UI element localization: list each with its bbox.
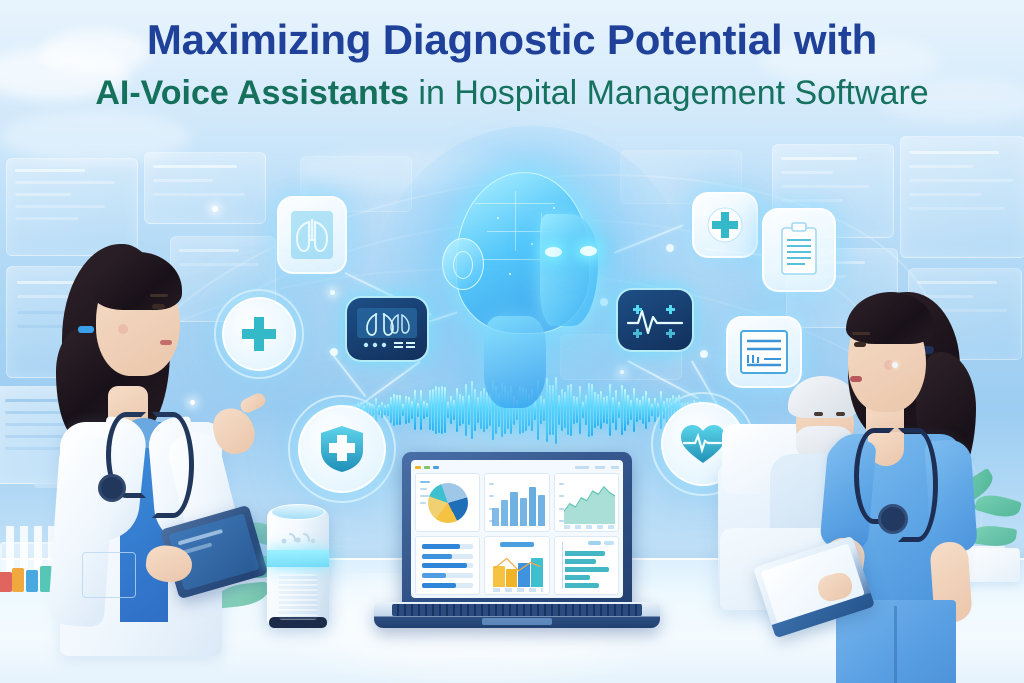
bar [506, 569, 518, 587]
panel-horizontal[interactable] [554, 536, 619, 595]
waveform-bar [387, 404, 389, 415]
waveform-bar [381, 402, 383, 419]
lung-scan-monitor-icon[interactable] [345, 296, 429, 362]
dashboard-grid [415, 473, 619, 595]
bar [492, 508, 499, 526]
bar [529, 487, 536, 526]
first-aid-icon[interactable] [692, 192, 758, 258]
dashboard-window-bar [415, 463, 619, 471]
waveform-bar [657, 403, 659, 417]
page-title: Maximizing Diagnostic Potential with AI-… [0, 18, 1024, 111]
title-line-2-rest: in Hospital Management Software [409, 74, 929, 112]
title-line-1: Maximizing Diagnostic Potential with [0, 18, 1024, 62]
panel-combo[interactable] [484, 536, 549, 595]
patient-queue-list [420, 542, 475, 590]
bar [520, 498, 527, 526]
speaker-mic-glyph [280, 530, 316, 546]
bar [565, 575, 591, 580]
doctor-figure [48, 236, 298, 656]
laptop-keyboard[interactable] [392, 604, 642, 616]
list-item [422, 563, 473, 568]
panel-list[interactable] [415, 536, 480, 595]
bar [531, 558, 543, 587]
waveform-bar [399, 395, 401, 425]
panel-bars[interactable] [484, 473, 549, 532]
window-dot [433, 466, 439, 469]
bar [565, 583, 600, 588]
bar [565, 567, 609, 572]
waveform-bar [405, 396, 407, 425]
waveform-bar [663, 401, 665, 419]
window-control [575, 466, 589, 469]
list-item [422, 544, 473, 549]
waveform-bar [372, 404, 374, 416]
ai-hologram-head [432, 166, 632, 416]
window-control [595, 466, 605, 469]
pie-chart [428, 483, 468, 523]
waveform-bar [660, 391, 662, 429]
combo-chart [493, 553, 542, 587]
nurse-figure [820, 288, 1024, 683]
waveform-bar [666, 398, 668, 423]
ai-ear-icon [442, 238, 484, 290]
waveform-bar [411, 401, 413, 419]
waveform-bar [654, 398, 656, 422]
window-control [611, 466, 619, 469]
list-item [422, 583, 473, 588]
ecg-monitor-icon[interactable] [616, 288, 694, 352]
title-line-2: AI-Voice Assistants in Hospital Manageme… [0, 76, 1024, 112]
laptop-base [374, 602, 660, 628]
window-dot [415, 466, 421, 469]
bar [501, 500, 508, 526]
panel-trend[interactable] [554, 473, 619, 532]
list-item [422, 554, 473, 559]
list-item [422, 573, 473, 578]
smart-speaker[interactable] [267, 508, 329, 626]
ai-eye-left [545, 247, 562, 257]
speaker-status-ring [267, 550, 329, 567]
ai-eye-right [580, 246, 597, 256]
bar [538, 495, 545, 526]
waveform-bar [402, 404, 404, 417]
waveform-bar [384, 405, 386, 415]
hero-banner: Maximizing Diagnostic Potential with AI-… [0, 0, 1024, 683]
panel-pie[interactable] [415, 473, 480, 532]
bar [565, 559, 597, 564]
clipboard-chart-icon[interactable] [762, 208, 836, 292]
waveform-bar [378, 405, 380, 415]
bar [510, 492, 517, 526]
bar [493, 566, 505, 587]
waveform-bar [651, 404, 653, 416]
window-dot [424, 466, 430, 469]
bar [518, 563, 530, 587]
bar-chart [492, 479, 544, 526]
title-highlight: AI-Voice Assistants [95, 74, 409, 112]
waveform-bar [396, 395, 398, 426]
laptop[interactable] [392, 452, 642, 652]
dashboard-screen[interactable] [411, 460, 623, 598]
laptop-trackpad[interactable] [482, 618, 552, 625]
waveform-bar [393, 394, 395, 426]
waveform-bar [408, 397, 410, 423]
bar [565, 551, 605, 556]
horizontal-bar-chart [565, 549, 614, 590]
area-chart [564, 478, 615, 524]
waveform-bar [390, 397, 392, 422]
